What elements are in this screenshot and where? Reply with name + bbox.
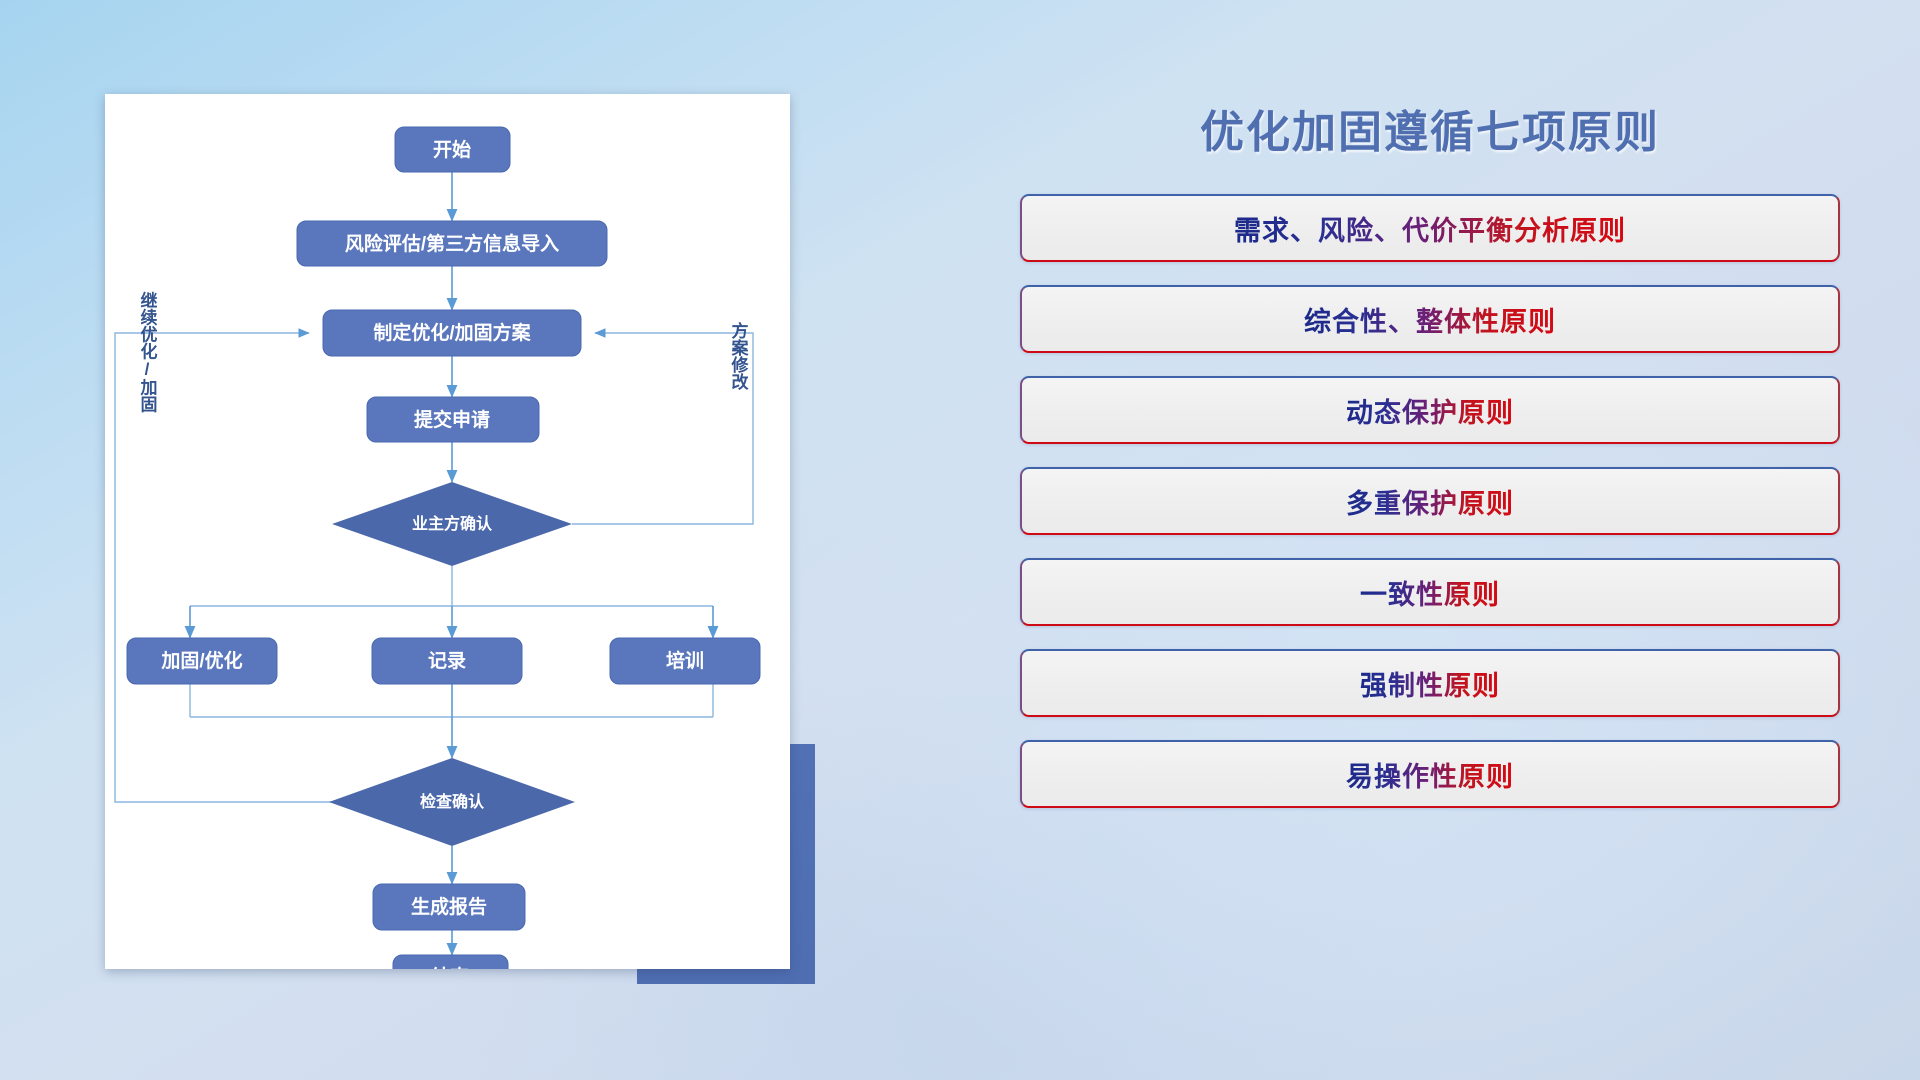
flow-node-owner-confirm[interactable]: 业主方确认 [332, 482, 572, 566]
flowchart-card: 开始 风险评估/第三方信息导入 制定优化/加固方案 提交申请 业主方确认 [105, 94, 790, 969]
principle-label: 综合性、整体性原则 [1304, 300, 1556, 339]
principle-label: 一致性原则 [1360, 573, 1500, 612]
principle-item[interactable]: 多重保护原则 [1020, 467, 1840, 535]
principle-item[interactable]: 需求、风险、代价平衡分析原则 [1020, 194, 1840, 262]
principle-label: 强制性原则 [1360, 664, 1500, 703]
slide-canvas: 开始 风险评估/第三方信息导入 制定优化/加固方案 提交申请 业主方确认 [0, 0, 1920, 1080]
flow-node-report-label: 生成报告 [411, 895, 487, 918]
flow-node-check-confirm[interactable]: 检查确认 [329, 758, 575, 846]
flow-node-risk-assessment-label: 风险评估/第三方信息导入 [345, 232, 559, 255]
principle-item[interactable]: 综合性、整体性原则 [1020, 285, 1840, 353]
principle-item[interactable]: 强制性原则 [1020, 649, 1840, 717]
flow-node-check-confirm-label: 检查确认 [420, 792, 485, 811]
flow-node-plan-label: 制定优化/加固方案 [373, 321, 531, 344]
flow-node-report[interactable]: 生成报告 [373, 884, 525, 930]
principle-item[interactable]: 一致性原则 [1020, 558, 1840, 626]
principle-label: 需求、风险、代价平衡分析原则 [1234, 209, 1626, 248]
flow-node-reinforce-label: 加固/优化 [160, 649, 242, 672]
flow-node-training-label: 培训 [666, 649, 704, 672]
flow-node-training[interactable]: 培训 [610, 638, 760, 684]
flow-node-plan[interactable]: 制定优化/加固方案 [323, 310, 581, 356]
flow-node-record[interactable]: 记录 [372, 638, 522, 684]
flow-node-end[interactable]: 结束 [393, 955, 508, 969]
flow-node-submit[interactable]: 提交申请 [367, 397, 539, 442]
principle-item[interactable]: 易操作性原则 [1020, 740, 1840, 808]
flow-node-owner-confirm-label: 业主方确认 [412, 514, 493, 533]
principles-panel: 优化加固遵循七项原则 需求、风险、代价平衡分析原则 综合性、整体性原则 动态保护… [1020, 96, 1840, 996]
edge-label-continue-optimize: 继续优化/加固 [138, 290, 159, 413]
principle-label: 易操作性原则 [1346, 755, 1514, 794]
edge-label-plan-revise: 方案修改 [729, 321, 750, 391]
principle-label: 多重保护原则 [1346, 482, 1514, 521]
principle-label: 动态保护原则 [1346, 391, 1514, 430]
principle-item[interactable]: 动态保护原则 [1020, 376, 1840, 444]
flow-node-submit-label: 提交申请 [414, 408, 490, 431]
flow-node-start[interactable]: 开始 [395, 127, 510, 172]
flowchart-svg: 开始 风险评估/第三方信息导入 制定优化/加固方案 提交申请 业主方确认 [105, 94, 790, 969]
edge-owner-plan-revise [572, 333, 753, 524]
flow-node-reinforce[interactable]: 加固/优化 [127, 638, 277, 684]
flow-node-record-label: 记录 [428, 650, 466, 672]
flow-node-risk-assessment[interactable]: 风险评估/第三方信息导入 [297, 221, 607, 266]
principles-title: 优化加固遵循七项原则 [1020, 96, 1840, 160]
flow-node-start-label: 开始 [433, 138, 471, 161]
principles-list: 需求、风险、代价平衡分析原则 综合性、整体性原则 动态保护原则 多重保护原则 一… [1020, 194, 1840, 808]
